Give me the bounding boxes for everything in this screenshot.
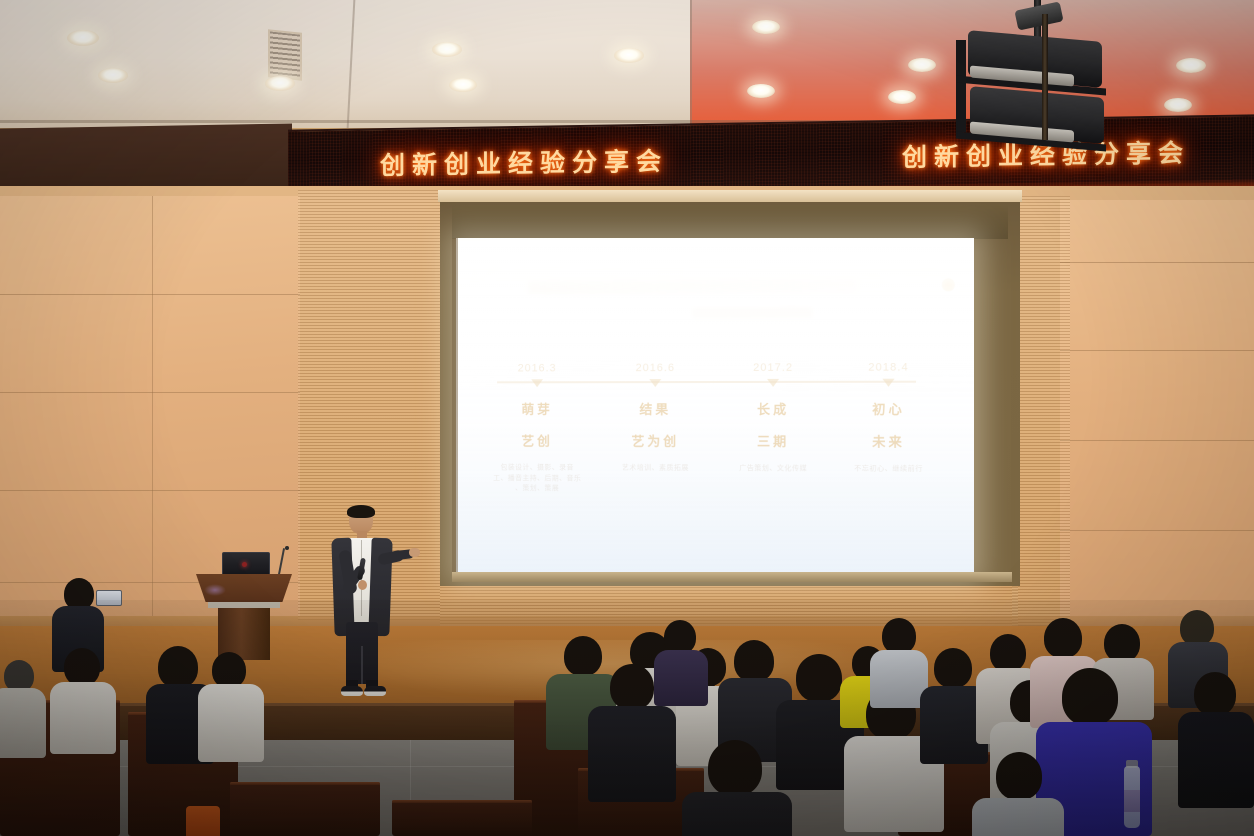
projection-screen-roller — [452, 205, 1008, 239]
presenter-shoe-right — [364, 686, 386, 696]
downlight-icon — [908, 58, 936, 72]
ceiling-seam — [690, 0, 692, 128]
timeline-heading-primary: 萌芽 — [480, 399, 595, 418]
auditorium-photo: 创新创业经验分享会 创新创业经验分享会 — [0, 0, 1254, 836]
projection-screen: 2016.3 萌芽 艺创 包装设计、摄影、录音 工、播音主持、后期、音乐 、策划… — [456, 238, 974, 576]
downlight-icon — [752, 20, 780, 34]
downlight-icon — [67, 30, 99, 46]
downlight-icon — [888, 90, 916, 104]
air-vent-icon — [268, 29, 302, 81]
presenter-shoe-left — [341, 686, 363, 696]
stage-fascia — [0, 706, 1254, 740]
downlight-icon — [449, 78, 477, 92]
timeline-heading-primary: 初心 — [829, 399, 949, 418]
microphone-tip-icon — [285, 546, 289, 550]
timeline-heading-secondary: 艺为创 — [597, 431, 714, 450]
led-banner-text-left: 创新创业经验分享会 — [380, 142, 668, 183]
downlight-icon — [432, 42, 462, 57]
timeline-note: 广告策划、文化传媒 — [714, 464, 833, 475]
wood-slat-panel — [1012, 196, 1070, 632]
wall-trim — [0, 616, 1254, 626]
presenter — [316, 506, 420, 702]
screen-edge — [452, 238, 458, 578]
timeline-heading-primary: 结果 — [597, 399, 714, 418]
lectern — [196, 548, 292, 660]
presenter-hair — [347, 505, 375, 518]
projector-mount-head — [1014, 1, 1063, 30]
downlight-icon — [265, 76, 295, 91]
presenter-hand-left — [358, 580, 367, 590]
downlight-icon — [614, 48, 644, 63]
timeline-heading-primary: 长成 — [714, 399, 833, 418]
presenter-hand-right — [409, 548, 420, 557]
alcove-top-trim — [438, 190, 1022, 202]
acoustic-panel-wall-right — [1060, 200, 1254, 630]
screen-bottom-bar — [452, 572, 1012, 582]
downlight-icon — [1176, 58, 1206, 73]
lectern-column — [218, 608, 270, 660]
banner-left-frame — [0, 123, 292, 192]
timeline-note: 包装设计、摄影、录音 工、播音主持、后期、音乐 、策划、策展 — [480, 463, 595, 495]
downlight-icon — [98, 68, 128, 83]
downlight-icon — [747, 84, 775, 98]
projector-bracket — [956, 40, 966, 132]
hall-floor — [0, 740, 1254, 836]
ceiling-seam — [347, 0, 356, 128]
timeline-note: 艺术培训、素质拓展 — [597, 464, 714, 475]
timeline-note: 不忘初心、继续前行 — [829, 464, 949, 475]
presenter-leg-gap — [361, 646, 363, 684]
timeline-heading-secondary: 三期 — [714, 431, 833, 450]
downlight-icon — [1164, 98, 1192, 112]
timeline-heading-secondary: 艺创 — [480, 431, 595, 450]
ceiling-projector-rig — [956, 0, 1126, 150]
timeline-heading-secondary: 未来 — [829, 431, 949, 450]
laptop-indicator-icon — [242, 562, 247, 567]
screen-glare — [460, 238, 974, 394]
lectern-light-glow — [204, 584, 226, 596]
projector-cable — [1042, 14, 1048, 140]
